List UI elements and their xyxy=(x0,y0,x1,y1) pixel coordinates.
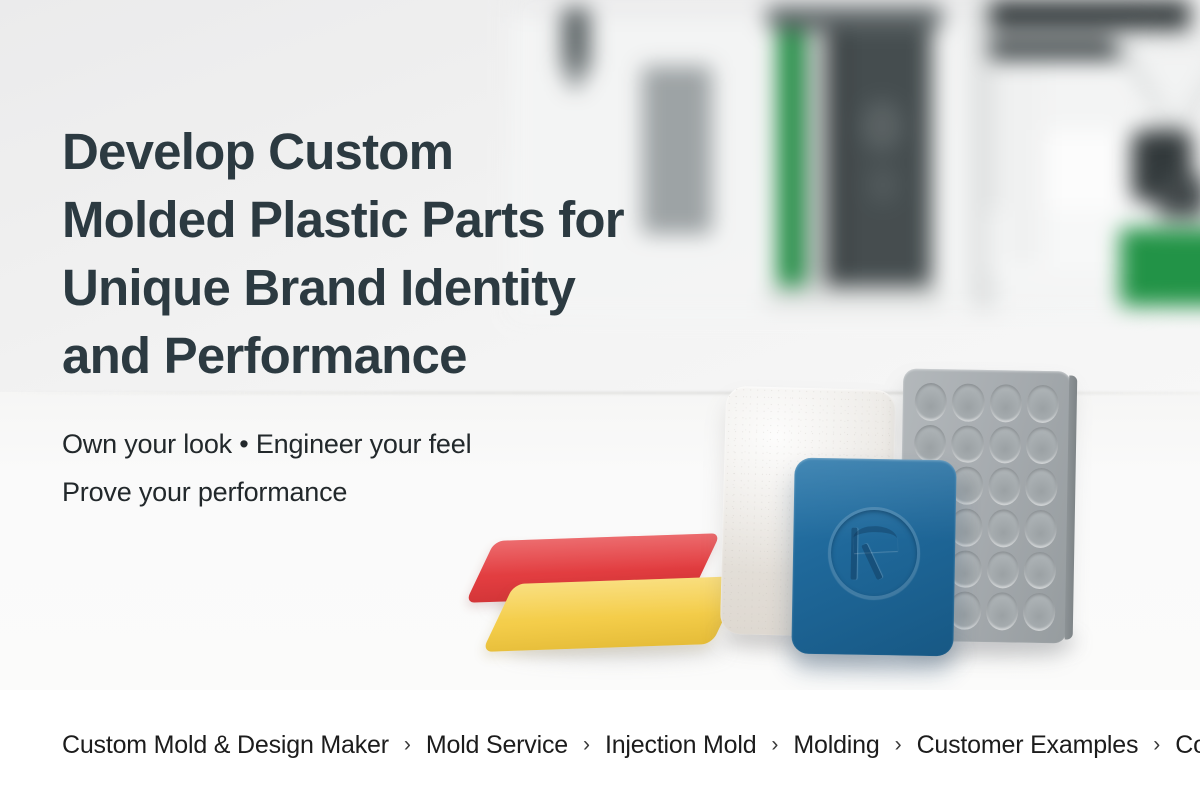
chevron-right-icon: › xyxy=(771,734,778,755)
chevron-right-icon: › xyxy=(895,734,902,755)
dimple xyxy=(951,425,984,463)
dimple xyxy=(1025,468,1058,506)
k-upper-arm xyxy=(853,525,898,553)
hero-page: Develop Custom Molded Plastic Parts for … xyxy=(0,0,1200,800)
branded-embossed-plate xyxy=(791,458,956,657)
grey-panel-edge xyxy=(1065,375,1078,639)
breadcrumb-bar: Custom Mold & Design Maker›Mold Service›… xyxy=(0,690,1200,800)
breadcrumb-item-molding[interactable]: Molding xyxy=(793,731,879,760)
brand-k-logo-icon xyxy=(847,522,908,585)
hero-subheading: Own your look • Engineer your feel Prove… xyxy=(62,420,702,516)
dimple xyxy=(914,383,947,421)
dimple xyxy=(985,592,1018,630)
hero-section: Develop Custom Molded Plastic Parts for … xyxy=(0,0,1200,690)
breadcrumb-item-injection-mold[interactable]: Injection Mold xyxy=(605,731,756,760)
breadcrumb-item-mold-service[interactable]: Mold Service xyxy=(426,731,568,760)
dimple xyxy=(988,467,1021,505)
dimple xyxy=(987,509,1020,547)
dimple xyxy=(988,426,1021,464)
breadcrumb: Custom Mold & Design Maker›Mold Service›… xyxy=(62,690,1200,800)
yellow-flat-slab xyxy=(482,576,744,652)
breadcrumb-item-custom-mold-design-maker[interactable]: Custom Mold & Design Maker xyxy=(62,731,389,760)
chevron-right-icon: › xyxy=(583,734,590,755)
dimple xyxy=(986,551,1019,589)
breadcrumb-item-customer-examples[interactable]: Customer Examples xyxy=(917,731,1139,760)
hero-copy: Develop Custom Molded Plastic Parts for … xyxy=(62,118,702,516)
page-title: Develop Custom Molded Plastic Parts for … xyxy=(62,118,702,390)
dimple xyxy=(1026,385,1059,423)
dimple xyxy=(1024,510,1057,548)
breadcrumb-item-contact[interactable]: Contact xyxy=(1175,731,1200,760)
dimple xyxy=(989,384,1022,422)
dimple xyxy=(1023,551,1056,589)
dimple xyxy=(1025,426,1058,464)
chevron-right-icon: › xyxy=(1153,734,1160,755)
dimple xyxy=(1023,593,1056,631)
dimple xyxy=(914,424,947,462)
dimple xyxy=(952,383,985,421)
chevron-right-icon: › xyxy=(404,734,411,755)
